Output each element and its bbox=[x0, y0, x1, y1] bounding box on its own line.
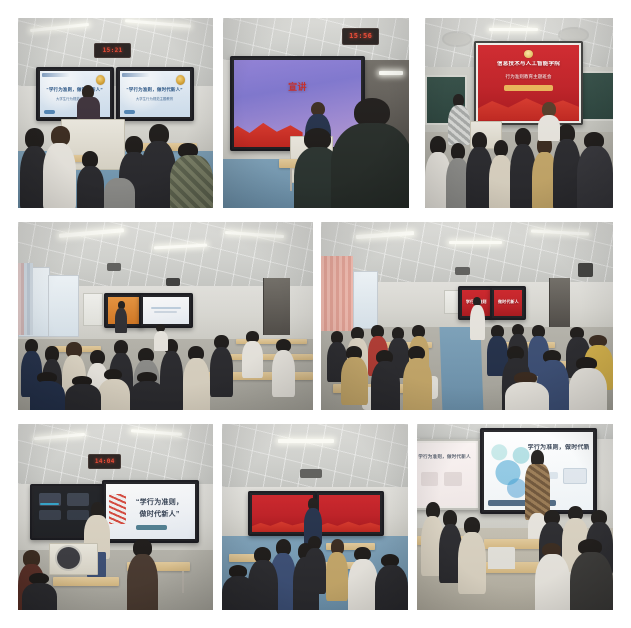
display-right-photo-7 bbox=[315, 491, 384, 536]
slide-subtitle-photo-3: 行为准则教育主题班会 bbox=[486, 74, 571, 80]
slide-subtitle-photo-1-right: 大学生行为规范主题教育 bbox=[125, 96, 184, 101]
photo-6: 14:04 “学行为准则， 做时代新人” bbox=[18, 424, 213, 610]
photo-3: 信息技术与人工智能学院 行为准则教育主题班会 bbox=[425, 18, 613, 208]
photo-2: 15:56 宣讲 bbox=[223, 18, 409, 208]
photo-8: 学行为准则，做时代新人 学行为准则，做时代新人 bbox=[417, 424, 613, 610]
wall-clock-photo-6: 14:04 bbox=[88, 454, 121, 469]
photo-collage: 15:21 “学行为准则，做时代新人” 大学生行为规范主题教育 “学行为 bbox=[0, 0, 631, 628]
display-left-photo-8: 学行为准则，做时代新人 bbox=[417, 439, 480, 510]
slide-title-photo-6: “学行为准则， bbox=[127, 498, 192, 507]
slide-subtitle-photo-6: 做时代新人” bbox=[127, 510, 192, 519]
display-right-photo-5: 做时代新人 bbox=[490, 286, 526, 320]
slide-title-photo-1-right: “学行为准则，做时代新人” bbox=[124, 87, 186, 93]
slide-title-photo-8-left: 学行为准则，做时代新人 bbox=[417, 454, 472, 460]
presenter-photo-4 bbox=[115, 301, 127, 331]
photo-5: 学行为准则 做时代新人 bbox=[321, 222, 613, 410]
slide-title-photo-3: 信息技术与人工智能学院 bbox=[484, 61, 573, 68]
slide-title-photo-2: 宣讲 bbox=[242, 81, 353, 93]
wall-clock-photo-1: 15:21 bbox=[94, 43, 131, 58]
display-right-photo-6: “学行为准则， 做时代新人” bbox=[102, 480, 200, 544]
presenter-photo-5 bbox=[470, 297, 485, 338]
photo-4 bbox=[18, 222, 313, 410]
projection-photo-3: 信息技术与人工智能学院 行为准则教育主题班会 bbox=[474, 41, 583, 125]
wall-clock-photo-2: 15:56 bbox=[342, 28, 379, 45]
photo-7 bbox=[222, 424, 408, 610]
display-right-photo-1: “学行为准则，做时代新人” 大学生行为规范主题教育 bbox=[116, 67, 194, 120]
slide-title-photo-5-right: 做时代新人 bbox=[496, 299, 521, 304]
display-right-photo-4 bbox=[139, 293, 193, 327]
photo-1: 15:21 “学行为准则，做时代新人” 大学生行为规范主题教育 “学行为 bbox=[18, 18, 213, 208]
